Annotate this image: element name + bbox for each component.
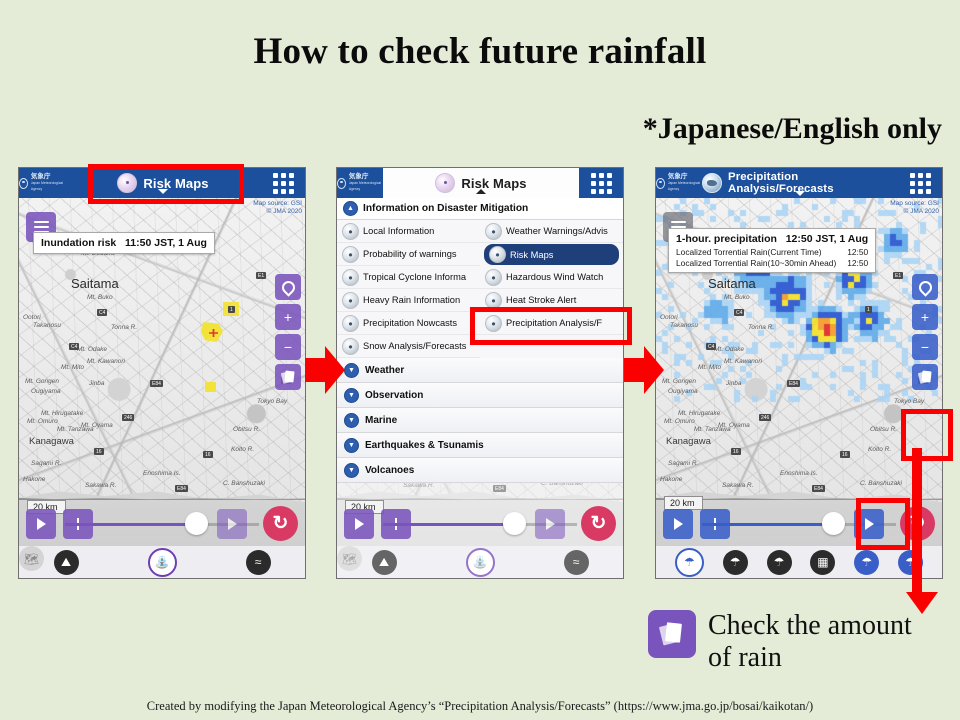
phone1-bubble-time: 11:50 JST, 1 Aug xyxy=(125,237,207,249)
accordion-label: Weather xyxy=(365,365,404,376)
flow-arrow-1 xyxy=(305,346,345,394)
grid-menu-icon[interactable] xyxy=(261,168,305,198)
map-label: Mt. Omuro xyxy=(664,418,695,425)
location-pin-icon[interactable] xyxy=(275,274,301,300)
zoom-out-icon[interactable]: − xyxy=(275,334,301,360)
map-label: Mt. Hirugatake xyxy=(41,410,83,417)
callout-arrow-down xyxy=(906,448,940,620)
map-label: Enoshima Is. xyxy=(143,470,181,477)
mesh-grid-icon[interactable]: ▦ xyxy=(810,550,835,575)
map-label: Ougiyama xyxy=(668,388,698,395)
play-icon[interactable] xyxy=(663,509,693,539)
location-pin-icon[interactable] xyxy=(912,274,938,300)
jma-logo-sub: Japan Meteorological Agency xyxy=(31,180,65,192)
map-label: Ootori xyxy=(660,314,678,321)
map-label: Saitama xyxy=(708,276,756,291)
road-badge: C4 xyxy=(97,309,107,316)
phone1-map[interactable]: SaitamaKanagawaMt. DodairaMt. BukoOotori… xyxy=(19,198,305,546)
jma-logo-name: 気象庁 xyxy=(668,173,688,180)
map-label: Takanosu xyxy=(670,322,698,329)
layers-icon xyxy=(648,610,696,658)
map-label: Sakawa R. xyxy=(722,482,753,489)
menu-section-title: Information on Disaster Mitigation xyxy=(363,203,528,214)
map-label: Mt. Gongen xyxy=(662,378,696,385)
map-credit: Map source: GSI © JMA 2020 xyxy=(253,200,302,216)
risk-maps-globe-icon: ● xyxy=(489,246,506,263)
phone3-row0-value: 12:50 xyxy=(847,247,868,257)
map-credit-line2: © JMA 2020 xyxy=(253,208,302,216)
road-badge: C4 xyxy=(706,343,716,350)
map-label: Obitsu R. xyxy=(233,426,260,433)
caption-text: Check the amount of rain xyxy=(708,610,912,674)
phone3-row1-value: 12:50 xyxy=(847,258,868,268)
road-badge: 16 xyxy=(731,448,741,455)
road-badge: E84 xyxy=(175,485,188,492)
road-badge: 1 xyxy=(228,306,235,313)
accordion-label: Observation xyxy=(365,390,423,401)
flood-icon: ≈ xyxy=(564,550,589,575)
map-label: Enoshima Is. xyxy=(780,470,818,477)
menu-item-label: Tropical Cyclone Informa xyxy=(363,272,466,282)
map-label: Mt. Odake xyxy=(714,346,744,353)
road-badge: 16 xyxy=(94,448,104,455)
menu-item-precipitation-nowcasts[interactable]: ●Precipitation Nowcasts xyxy=(337,312,480,335)
accordion-label: Marine xyxy=(365,415,397,426)
accordion-observation[interactable]: ▼Observation xyxy=(337,383,623,408)
chevron-down-circle-icon: ▼ xyxy=(344,438,359,453)
map-label: Mt. Kawanori xyxy=(724,358,762,365)
menu-item-risk-maps[interactable]: ●Risk Maps xyxy=(484,244,619,265)
phone-screenshot-menu: 気象庁 Japan Meteorological Agency Risk Map… xyxy=(336,167,624,579)
jma-logo: 気象庁 Japan Meteorological Agency xyxy=(656,168,702,198)
map-label: Mt. Buko xyxy=(87,294,113,301)
map-label: Tonna R. xyxy=(748,324,774,331)
timeline-knob[interactable] xyxy=(185,512,208,535)
warning-triangle-icon: ● xyxy=(485,223,502,240)
page-title: How to check future rainfall xyxy=(0,30,960,73)
phone3-map-controls[interactable]: + − xyxy=(912,274,938,390)
typhoon-icon: ● xyxy=(342,269,359,286)
road-badge: E1 xyxy=(256,272,266,279)
phone3-bubble-time: 12:50 JST, 1 Aug xyxy=(786,233,868,245)
precip-analysis-icon[interactable]: ☂ xyxy=(675,548,704,577)
timeline-knob xyxy=(503,512,526,535)
hazard-area-yellow-3 xyxy=(205,382,216,392)
map-label: Mt. Oyama xyxy=(81,422,113,429)
menu-item-tropical-cyclone-informa[interactable]: ●Tropical Cyclone Informa xyxy=(337,266,480,289)
phone3-title-area[interactable]: Precipitation Analysis/Forecasts xyxy=(702,171,898,195)
flood-icon[interactable]: ≈ xyxy=(246,550,271,575)
map-label: Ougiyama xyxy=(31,388,61,395)
nowcast-icon: ● xyxy=(342,315,359,332)
refresh-icon[interactable]: ↻ xyxy=(263,506,298,541)
jma-logo: 気象庁 Japan Meteorological Agency xyxy=(337,168,383,198)
menu-item-hazardous-wind-watch[interactable]: ●Hazardous Wind Watch xyxy=(480,266,623,289)
map-label: Ootori xyxy=(23,314,41,321)
map-label: Sakawa R. xyxy=(403,482,434,489)
building-icon: ● xyxy=(342,223,359,240)
menu-item-label: Heavy Rain Information xyxy=(363,295,460,305)
jma-mark-icon xyxy=(337,178,346,189)
menu-item-label: Heat Stroke Alert xyxy=(506,295,576,305)
accordion-volcanoes[interactable]: ▼Volcanoes xyxy=(337,458,623,483)
road-badge: 246 xyxy=(759,414,771,421)
source-footer: Created by modifying the Japan Meteorolo… xyxy=(0,699,960,714)
highlight-box-step-forward-button xyxy=(856,498,910,550)
caption-line2: of rain xyxy=(708,642,912,674)
map-label: Koito R. xyxy=(231,446,254,453)
inundation-icon[interactable]: ⛲ xyxy=(148,548,177,577)
map-credit-line1: Map source: GSI xyxy=(253,200,302,208)
phone3-info-bubble: 1-hour. precipitation 12:50 JST, 1 Aug L… xyxy=(668,228,876,273)
road-badge: E84 xyxy=(150,380,163,387)
road-badge: 16 xyxy=(203,451,213,458)
menu-item-label: Local Information xyxy=(363,226,434,236)
phone1-bottom-nav[interactable]: ⛰ ⛲ ≈ 🗺 xyxy=(19,545,305,578)
accordion-label: Volcanoes xyxy=(365,465,414,476)
caption-block: Check the amount of rain xyxy=(648,610,912,674)
jma-logo-sub: Japan Meteorological Agency xyxy=(349,180,383,192)
accordion-label: Earthquakes & Tsunamis xyxy=(365,440,484,451)
map-label: Tokyo Bay xyxy=(894,398,924,405)
phone3-map[interactable]: SaitamaKanagawaMt. DodairaMt. BukoOotori… xyxy=(656,198,942,546)
alert-yellow-icon: ● xyxy=(342,246,359,263)
map-label: Obitsu R. xyxy=(870,426,897,433)
accordion-weather[interactable]: ▼Weather xyxy=(337,358,623,383)
rain-5m-icon[interactable]: ☂ xyxy=(723,550,748,575)
heavy-rain-icon: ● xyxy=(342,292,359,309)
menu-item-label: Precipitation Nowcasts xyxy=(363,318,457,328)
phone3-header: 気象庁 Japan Meteorological Agency Precipit… xyxy=(656,168,942,198)
play-icon[interactable] xyxy=(26,509,56,539)
landslide-icon[interactable]: ⛰ xyxy=(54,550,79,575)
map-label: Tokyo Bay xyxy=(257,398,287,405)
chevron-down-circle-icon: ▼ xyxy=(344,388,359,403)
jma-logo-sub: Japan Meteorological Agency xyxy=(668,180,702,192)
jma-logo-name: 気象庁 xyxy=(31,173,51,180)
highlight-box-risk-maps-title xyxy=(88,164,244,204)
layers-icon[interactable] xyxy=(275,364,301,390)
caption-line1: Check the amount xyxy=(708,610,912,642)
chevron-down-circle-icon: ▼ xyxy=(344,463,359,478)
menu-item-probability-of-warnings[interactable]: ●Probability of warnings xyxy=(337,243,480,266)
map-label: Tonna R. xyxy=(111,324,137,331)
thermometer-icon: ● xyxy=(485,292,502,309)
flow-arrow-2 xyxy=(624,346,664,394)
map-label: Hakone xyxy=(660,476,682,483)
road-badge: 1 xyxy=(865,306,872,313)
phone3-bubble-row: Localized Torrential Rain(10~30min Ahead… xyxy=(676,258,868,268)
grid-menu-icon[interactable] xyxy=(579,168,623,198)
menu-item-label: Risk Maps xyxy=(510,250,553,260)
menu-item-label: Probability of warnings xyxy=(363,249,457,259)
menu-item-heavy-rain-information[interactable]: ●Heavy Rain Information xyxy=(337,289,480,312)
map-label: C. Banshuzaki xyxy=(860,480,902,487)
play-icon xyxy=(344,509,374,539)
road-badge: E84 xyxy=(787,380,800,387)
map-label: Mt. Mito xyxy=(61,364,84,371)
menu-item-local-information[interactable]: ●Local Information xyxy=(337,220,480,243)
refresh-icon: ↻ xyxy=(581,506,616,541)
precip-analysis-globe-icon xyxy=(702,173,722,193)
map-label: Kanagawa xyxy=(666,436,711,447)
map-label: Kanagawa xyxy=(29,436,74,447)
map-label: Sakawa R. xyxy=(85,482,116,489)
map-label: Mt. Mito xyxy=(698,364,721,371)
language-note: *Japanese/English only xyxy=(643,112,942,146)
map-credit-line2: © JMA 2020 xyxy=(890,208,939,216)
map-label: Mt. Kawanori xyxy=(87,358,125,365)
phone3-bubble-row: Localized Torrential Rain(Current Time) … xyxy=(676,247,868,257)
menu-item-label: Snow Analysis/Forecasts xyxy=(363,341,466,351)
step-forward-icon xyxy=(535,509,565,539)
map-label: Sagami R. xyxy=(668,460,698,467)
phone1-playback-controls[interactable]: ↻ xyxy=(19,502,305,546)
menu-section-header[interactable]: ▲ Information on Disaster Mitigation xyxy=(337,198,623,220)
phone3-title: Precipitation Analysis/Forecasts xyxy=(728,171,898,195)
road-badge: 246 xyxy=(122,414,134,421)
landslide-icon: ⛰ xyxy=(372,550,397,575)
map-label: Takanosu xyxy=(33,322,61,329)
jma-logo-name: 気象庁 xyxy=(349,173,369,180)
rain-30m-icon[interactable]: ☂ xyxy=(767,550,792,575)
map-label: Mt. Odake xyxy=(77,346,107,353)
phone-screenshot-risk-maps: 気象庁 Japan Meteorological Agency Risk Map… xyxy=(18,167,306,579)
road-badge: E1 xyxy=(893,272,903,279)
map-icon: 🗺 xyxy=(337,546,362,571)
wind-icon: ● xyxy=(485,269,502,286)
map-label: Hakone xyxy=(23,476,45,483)
map-label: Saitama xyxy=(71,276,119,291)
map-label: Sagami R. xyxy=(31,460,61,467)
map-label: Mt. Buko xyxy=(724,294,750,301)
map-label: Jinba xyxy=(89,380,105,387)
accordion-marine[interactable]: ▼Marine xyxy=(337,408,623,433)
map-credit: Map source: GSI © JMA 2020 xyxy=(890,200,939,216)
phone2-bottom-nav: ⛰ ⛲ ≈ 🗺 xyxy=(337,545,623,578)
timeline-knob[interactable] xyxy=(822,512,845,535)
jma-mark-icon xyxy=(19,178,28,189)
menu-item-snow-analysis-forecasts[interactable]: ●Snow Analysis/Forecasts xyxy=(337,335,480,358)
menu-item-label: Weather Warnings/Advis xyxy=(506,226,608,236)
phone1-info-bubble: Inundation risk 11:50 JST, 1 Aug xyxy=(33,232,215,254)
inundation-icon: ⛲ xyxy=(466,548,495,577)
rain-cloud-icon[interactable]: ☂ xyxy=(854,550,879,575)
layers-icon[interactable] xyxy=(912,364,938,390)
map-label: Mt. Oyama xyxy=(718,422,750,429)
jma-mark-icon xyxy=(656,178,665,189)
phone1-map-controls[interactable]: + − xyxy=(275,274,301,390)
phone1-bubble-label: Inundation risk xyxy=(41,237,116,249)
map-label: Koito R. xyxy=(868,446,891,453)
map-label: Jinba xyxy=(726,380,742,387)
accordion-list[interactable]: ▼Weather▼Observation▼Marine▼Earthquakes … xyxy=(337,358,623,483)
road-badge: E84 xyxy=(812,485,825,492)
phone3-row0-label: Localized Torrential Rain(Current Time) xyxy=(676,247,822,257)
zoom-in-icon[interactable]: + xyxy=(275,304,301,330)
phone2-header: 気象庁 Japan Meteorological Agency Risk Map… xyxy=(337,168,623,199)
chevron-up-circle-icon: ▲ xyxy=(343,201,358,216)
map-label: C. Banshuzaki xyxy=(223,480,265,487)
accordion-earthquakes-tsunamis[interactable]: ▼Earthquakes & Tsunamis xyxy=(337,433,623,458)
phone2-title: Risk Maps xyxy=(461,176,526,191)
map-label: Mt. Omuro xyxy=(27,418,58,425)
road-badge: E84 xyxy=(493,485,506,492)
menu-item-weather-warnings-advis[interactable]: ●Weather Warnings/Advis xyxy=(480,220,623,243)
phone3-row1-label: Localized Torrential Rain(10~30min Ahead… xyxy=(676,258,836,268)
chevron-down-circle-icon: ▼ xyxy=(344,413,359,428)
step-forward-icon[interactable] xyxy=(217,509,247,539)
road-badge: C4 xyxy=(734,309,744,316)
map-credit-line1: Map source: GSI xyxy=(890,200,939,208)
phone2-playback-controls: ↻ xyxy=(337,502,623,546)
grid-menu-icon[interactable] xyxy=(898,168,942,198)
highlight-box-precip-analysis-menu xyxy=(470,307,632,345)
chevron-up-icon xyxy=(476,189,486,194)
road-badge: C4 xyxy=(69,343,79,350)
chevron-down-icon xyxy=(795,191,805,196)
chevron-down-circle-icon: ▼ xyxy=(344,363,359,378)
phone3-bubble-label: 1-hour. precipitation xyxy=(676,233,777,245)
slide-root: How to check future rainfall *Japanese/E… xyxy=(0,0,960,720)
zoom-in-icon[interactable]: + xyxy=(912,304,938,330)
jma-logo: 気象庁 Japan Meteorological Agency xyxy=(19,168,65,198)
phone2-title-area[interactable]: Risk Maps xyxy=(383,173,579,193)
map-label: Mt. Hirugatake xyxy=(678,410,720,417)
map-icon[interactable]: 🗺 xyxy=(19,546,44,571)
road-badge: 16 xyxy=(840,451,850,458)
zoom-out-icon[interactable]: − xyxy=(912,334,938,360)
risk-maps-globe-icon xyxy=(435,173,455,193)
menu-item-label: Hazardous Wind Watch xyxy=(506,272,603,282)
map-label: Mt. Gongen xyxy=(25,378,59,385)
